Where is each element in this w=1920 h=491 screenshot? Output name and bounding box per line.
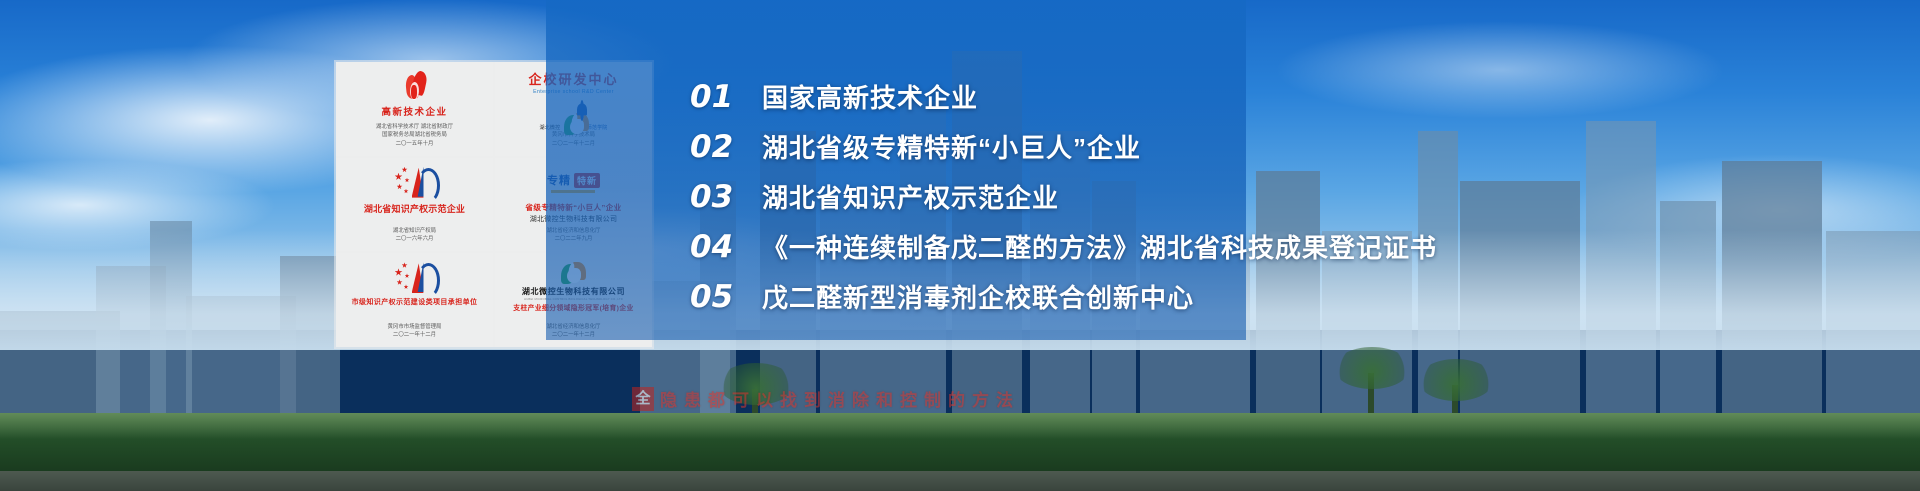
honor-label: 湖北省级专精特新“小巨人”企业 (762, 135, 1141, 161)
issuer-line: 二〇二一年十二月 (388, 331, 442, 339)
honor-item-05[interactable]: 05 戊二醛新型消毒剂企校联合创新中心 (690, 282, 1790, 332)
honor-label: 国家高新技术企业 (762, 85, 978, 111)
ip-star-sail-icon (395, 165, 435, 201)
certificate-title: 湖北省知识产权示范企业 (364, 204, 465, 214)
plant-slogan-text: 隐患都可以找到消除和控制的方法 (660, 386, 1020, 411)
honor-number: 04 (690, 232, 762, 263)
certificate-issuer: 湖北省科学技术厅 湖北省财政厅 国家税务总局湖北省税务局 二〇一五年十月 (376, 123, 453, 151)
honor-item-04[interactable]: 04 《一种连续制备戊二醛的方法》湖北省科技成果登记证书 (690, 232, 1790, 282)
honor-number: 02 (690, 132, 762, 163)
certificate-issuer: 湖北省知识产权局 二〇一六年六月 (393, 227, 436, 247)
honor-item-02[interactable]: 02 湖北省级专精特新“小巨人”企业 (690, 132, 1790, 182)
certificate-title: 高新技术企业 (381, 108, 447, 119)
issuer-line: 黄冈市市场监督管理局 (388, 323, 442, 331)
ip-star-sail-icon (395, 260, 435, 296)
honor-item-01[interactable]: 01 国家高新技术企业 (690, 82, 1790, 132)
issuer-line: 湖北省科学技术厅 湖北省财政厅 (376, 123, 453, 131)
certificate-high-tech-enterprise[interactable]: 高新技术企业 湖北省科学技术厅 湖北省财政厅 国家税务总局湖北省税务局 二〇一五… (336, 62, 493, 156)
certificate-hubei-ip-demonstration-enterprise[interactable]: 湖北省知识产权示范企业 湖北省知识产权局 二〇一六年六月 (336, 158, 493, 252)
certificate-title: 市级知识产权示范建设类项目承担单位 (352, 299, 478, 307)
honor-number: 01 (690, 82, 762, 113)
certificate-municipal-ip-demo-project-unit[interactable]: 市级知识产权示范建设类项目承担单位 黄冈市市场监督管理局 二〇二一年十二月 (336, 253, 493, 347)
issuer-line: 湖北省知识产权局 (393, 227, 436, 235)
issuer-line: 二〇一六年六月 (393, 235, 436, 243)
honors-banner: 全 隐患都可以找到消除和控制的方法 高新技术企业 湖北省科学技术厅 湖北省财政厅… (0, 0, 1920, 491)
honor-item-03[interactable]: 03 湖北省知识产权示范企业 (690, 182, 1790, 232)
issuer-line: 二〇一五年十月 (376, 140, 453, 148)
honor-number: 03 (690, 182, 762, 213)
plant-slogan-badge: 全 (632, 387, 654, 411)
honor-label: 湖北省知识产权示范企业 (762, 185, 1059, 211)
honor-label: 《一种连续制备戊二醛的方法》湖北省科技成果登记证书 (762, 235, 1437, 261)
plant-slogan: 全 隐患都可以找到消除和控制的方法 (632, 386, 1020, 411)
road (0, 471, 1920, 491)
issuer-line: 国家税务总局湖北省税务局 (376, 131, 453, 139)
honors-list: 01 国家高新技术企业 02 湖北省级专精特新“小巨人”企业 03 湖北省知识产… (690, 82, 1790, 332)
honor-number: 05 (690, 282, 762, 313)
certificate-issuer: 黄冈市市场监督管理局 二〇二一年十二月 (388, 323, 442, 343)
red-flame-icon (402, 69, 428, 105)
honor-label: 戊二醛新型消毒剂企校联合创新中心 (762, 285, 1194, 311)
